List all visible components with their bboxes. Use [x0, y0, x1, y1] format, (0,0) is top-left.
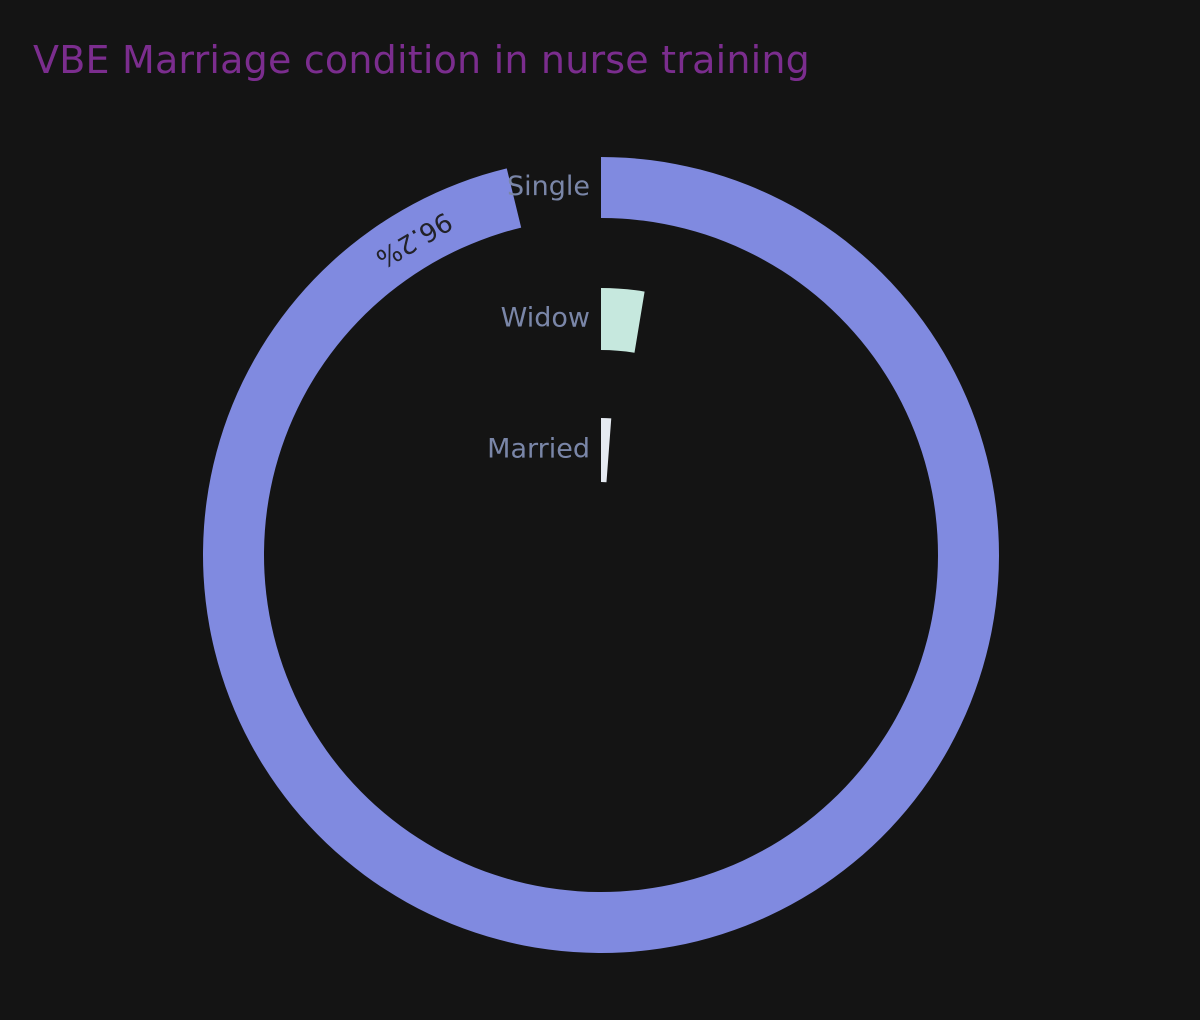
radial-bar-chart: VBE Marriage condition in nurse training…	[0, 0, 1200, 1020]
radial-bar-married[interactable]	[601, 418, 611, 482]
category-label-widow: Widow	[501, 303, 590, 334]
radial-chart-canvas: 96.2% SingleWidowMarried	[0, 0, 1200, 1020]
category-label-married: Married	[487, 434, 590, 465]
radial-bar-widow[interactable]	[601, 288, 645, 353]
radial-bars-group	[203, 157, 999, 953]
category-label-single: Single	[507, 171, 590, 202]
radial-bar-single[interactable]	[203, 157, 999, 953]
